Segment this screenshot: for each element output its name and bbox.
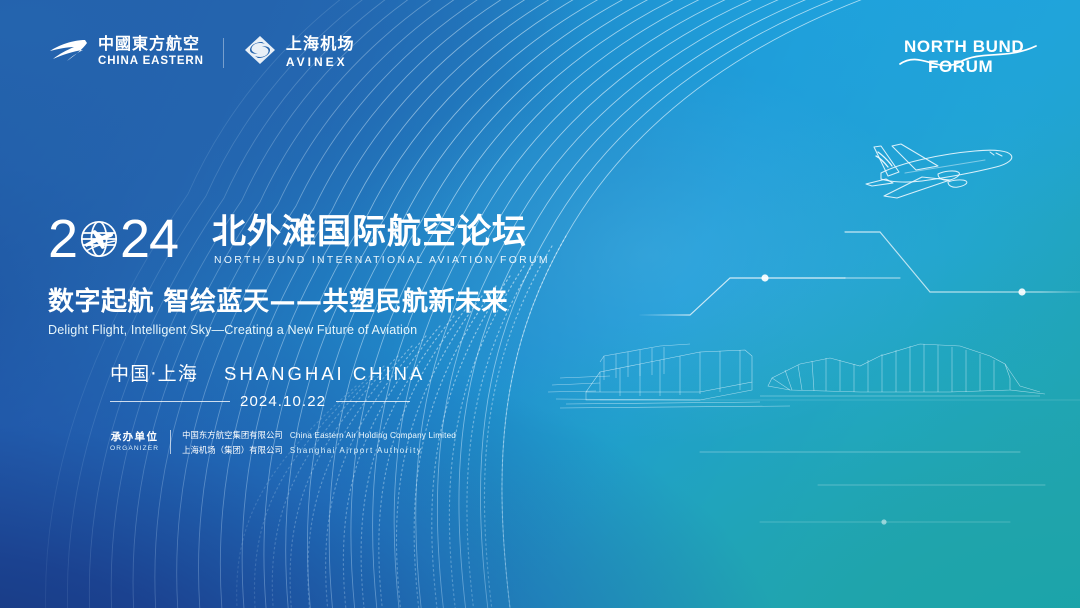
forum-title-cn: 北外滩国际航空论坛 (212, 215, 550, 249)
organizer-entry-en: Shanghai Airport Authority (290, 446, 423, 455)
logo-china-eastern[interactable]: 中國東方航空 CHINA EASTERN (47, 35, 204, 70)
title-row: 2 24 北外滩国际航空论坛 NORTH BUND INTERNATIONAL … (48, 210, 568, 268)
shanghai-airport-avinex-icon (243, 34, 277, 71)
organizer-entry-cn: 上海机场（集团）有限公司 (182, 444, 283, 456)
logo-china-eastern-text: 中國東方航空 CHINA EASTERN (98, 37, 204, 68)
logo-shanghai-airport-text: 上海机场 AVINEX (286, 37, 355, 68)
svg-text:2: 2 (48, 211, 77, 267)
logo-shanghai-airport-en: AVINEX (286, 56, 355, 68)
year-2024: 2 24 (48, 210, 198, 268)
date-rule-left (110, 401, 230, 402)
organizer-label-cn: 承办单位 (111, 432, 159, 443)
logo-china-eastern-cn: 中國東方航空 (98, 37, 204, 53)
venue-row: 中国·上海 SHANGHAI CHINA (110, 359, 568, 386)
title-block: 2 24 北外滩国际航空论坛 NORTH BUND INTERNATIONAL … (48, 210, 568, 456)
venue-en: SHANGHAI CHINA (224, 363, 425, 385)
logo-divider (223, 38, 224, 68)
header-logos: 中國東方航空 CHINA EASTERN 上海机场 AVINEX (47, 34, 355, 71)
organizer-block: 承办单位 ORGANIZER 中国东方航空集团有限公司 China Easter… (110, 429, 568, 456)
venue-cn: 中国·上海 (110, 359, 198, 386)
organizer-entry: 中国东方航空集团有限公司 China Eastern Air Holding C… (182, 429, 456, 441)
logo-china-eastern-en: CHINA EASTERN (98, 56, 204, 68)
slogan-cn: 数字起航 智绘蓝天——共塑民航新未来 (48, 288, 568, 317)
slogan-en: Delight Flight, Intelligent Sky—Creating… (48, 323, 568, 337)
organizer-entry: 上海机场（集团）有限公司 Shanghai Airport Authority (182, 444, 456, 456)
organizer-entry-en: China Eastern Air Holding Company Limite… (290, 431, 456, 440)
china-eastern-swallow-icon (47, 35, 89, 70)
svg-text:24: 24 (120, 211, 178, 267)
logo-shanghai-airport-cn: 上海机场 (286, 37, 355, 53)
organizer-entry-cn: 中国东方航空集团有限公司 (182, 429, 283, 441)
organizer-label-en: ORGANIZER (110, 446, 159, 453)
poster: 中國東方航空 CHINA EASTERN 上海机场 AVINEX NORTH B… (0, 0, 1080, 608)
date-rule-right (336, 401, 410, 402)
date-row: 2024.10.22 (110, 393, 410, 410)
title-text-group: 北外滩国际航空论坛 NORTH BUND INTERNATIONAL AVIAT… (212, 215, 550, 268)
organizer-divider (170, 430, 171, 454)
north-bund-forum-logo[interactable]: NORTH BUND FORUM (886, 30, 1046, 86)
north-bund-forum-line2: FORUM (928, 57, 993, 76)
event-date: 2024.10.22 (230, 393, 336, 410)
forum-title-en: NORTH BUND INTERNATIONAL AVIATION FORUM (214, 255, 550, 266)
organizer-label: 承办单位 ORGANIZER (110, 432, 159, 452)
logo-shanghai-airport[interactable]: 上海机场 AVINEX (243, 34, 355, 71)
organizer-entries: 中国东方航空集团有限公司 China Eastern Air Holding C… (182, 429, 456, 456)
